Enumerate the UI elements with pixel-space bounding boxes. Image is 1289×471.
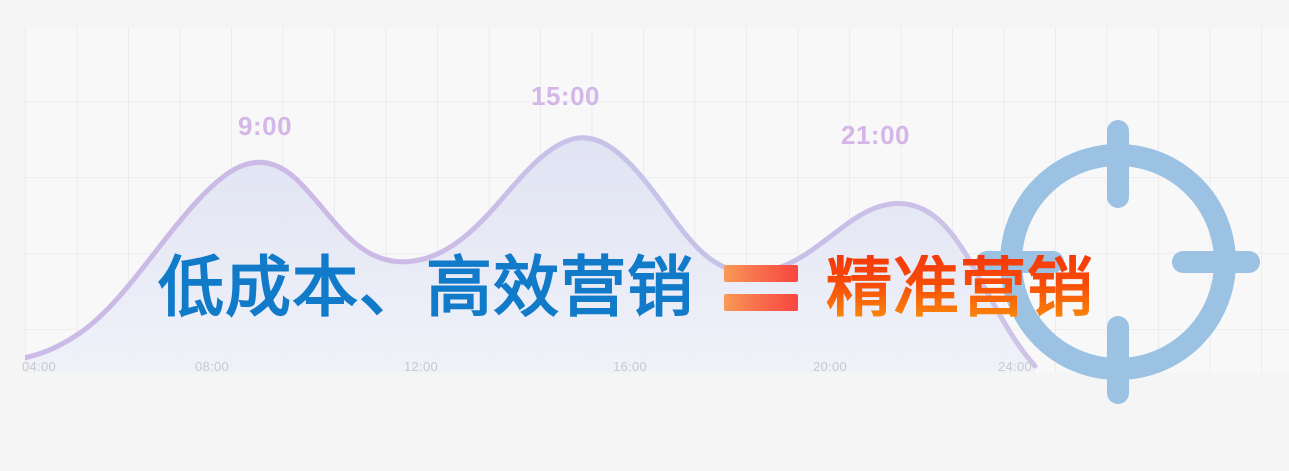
peak-label-9am: 9:00 <box>238 113 292 139</box>
x-axis-tick: 12:00 <box>404 360 438 373</box>
banner-root: 9:00 15:00 21:00 04:00 08:00 12:00 16:00… <box>0 0 1289 471</box>
x-axis-tick: 20:00 <box>813 360 847 373</box>
x-axis-tick: 16:00 <box>613 360 647 373</box>
peak-label-3pm: 15:00 <box>531 83 600 109</box>
crosshair-target-icon <box>975 119 1261 405</box>
peak-label-9pm: 21:00 <box>841 122 910 148</box>
x-axis-tick: 04:00 <box>22 360 56 373</box>
x-axis-tick: 08:00 <box>195 360 229 373</box>
area-chart-fill <box>25 138 1035 373</box>
